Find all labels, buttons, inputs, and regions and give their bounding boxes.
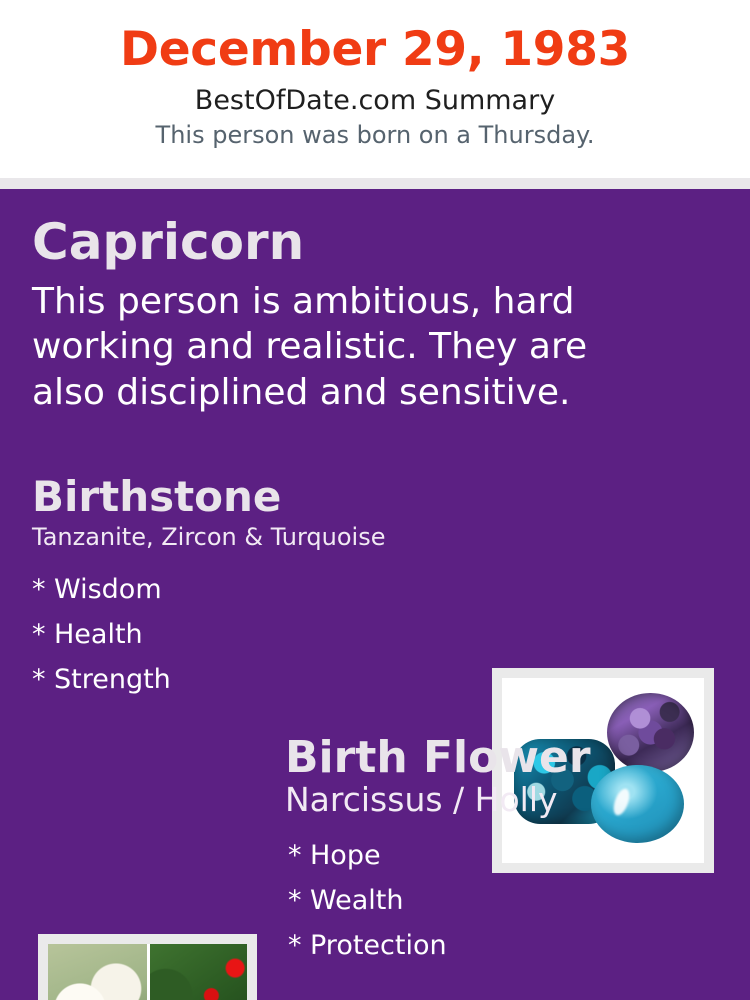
list-item: *Protection (288, 924, 725, 969)
birth-flower-section: Birth Flower Narcissus / Holly *Hope *We… (285, 736, 725, 969)
birthstone-trait-label: Health (54, 619, 143, 650)
birthstone-traits-list: *Wisdom *Health *Strength (32, 550, 472, 702)
birth-flower-traits-list: *Hope *Wealth *Protection (285, 818, 725, 968)
header-divider (0, 178, 750, 189)
birth-flower-photo (38, 934, 257, 1000)
narcissus-photo-panel (48, 944, 148, 1000)
bullet-star-icon: * (288, 834, 310, 879)
page-title: December 29, 1983 (0, 0, 750, 77)
bullet-star-icon: * (32, 658, 54, 703)
birth-weekday-note: This person was born on a Thursday. (0, 116, 750, 150)
list-item: *Hope (288, 834, 725, 879)
birthstone-section: Birthstone Tanzanite, Zircon & Turquoise… (32, 476, 472, 703)
bullet-star-icon: * (288, 924, 310, 969)
birth-flower-trait-label: Protection (310, 930, 447, 961)
zodiac-sign-name: Capricorn (32, 217, 692, 267)
list-item: *Wisdom (32, 568, 472, 613)
details-panel: Capricorn This person is ambitious, hard… (0, 189, 750, 1000)
bullet-star-icon: * (32, 613, 54, 658)
list-item: *Strength (32, 658, 472, 703)
card-header: December 29, 1983 BestOfDate.com Summary… (0, 0, 750, 178)
birth-flower-trait-label: Wealth (310, 885, 403, 916)
holly-photo-panel (148, 944, 248, 1000)
bullet-star-icon: * (32, 568, 54, 613)
birthstone-names: Tanzanite, Zircon & Turquoise (32, 518, 472, 550)
birthstone-trait-label: Wisdom (54, 574, 162, 605)
birthstone-trait-label: Strength (54, 664, 171, 695)
birth-flower-title: Birth Flower (285, 736, 725, 780)
birthstone-title: Birthstone (32, 476, 472, 518)
photo-divider (147, 944, 150, 1000)
birth-flower-names: Narcissus / Holly (285, 780, 725, 818)
birth-flower-trait-label: Hope (310, 840, 381, 871)
zodiac-description: This person is ambitious, hard working a… (32, 267, 647, 415)
list-item: *Health (32, 613, 472, 658)
summary-card: December 29, 1983 BestOfDate.com Summary… (0, 0, 750, 1000)
list-item: *Wealth (288, 879, 725, 924)
zodiac-section: Capricorn This person is ambitious, hard… (32, 217, 692, 415)
bullet-star-icon: * (288, 879, 310, 924)
site-summary-label: BestOfDate.com Summary (0, 77, 750, 116)
birth-flower-photo-inner (48, 944, 247, 1000)
